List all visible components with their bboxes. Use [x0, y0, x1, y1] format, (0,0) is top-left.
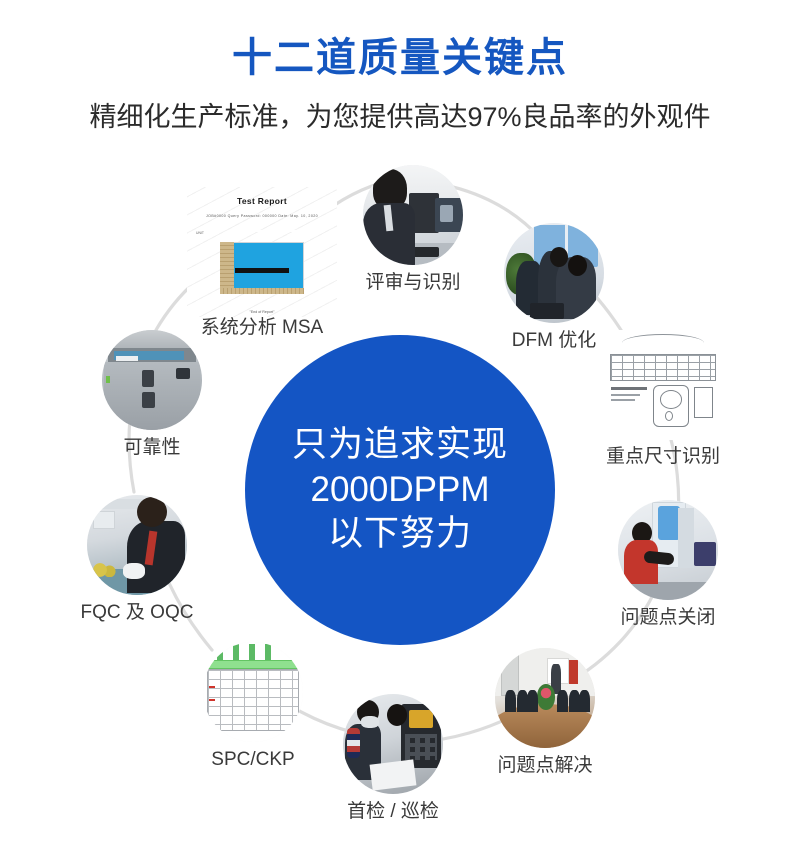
node-dfm-label: DFM 优化: [512, 331, 596, 350]
report-title: Test Report: [237, 196, 287, 206]
page-title: 十二道质量关键点: [0, 38, 800, 78]
node-solve-label: 问题点解决: [497, 756, 592, 775]
test-report-document-icon: Test Report JOB#0000 Query Password: 000…: [187, 187, 337, 317]
meeting-photo-icon: [495, 648, 595, 748]
center-line-3: 以下努力: [328, 512, 472, 557]
report-meta: JOB#0000 Query Password: 000000 Date: Ma…: [206, 214, 318, 218]
node-reliability-label: 可靠性: [123, 438, 180, 457]
node-dimension-label: 重点尺寸识别: [606, 447, 720, 466]
node-inspect-label: 首检 / 巡检: [347, 802, 439, 821]
node-fqc-label: FQC 及 OQC: [81, 603, 194, 622]
fqc-oqc-photo-icon: [87, 495, 187, 595]
center-line-1: 只为追求实现: [292, 423, 508, 468]
node-spc-label: SPC/CKP: [211, 750, 294, 769]
center-goal-circle: 只为追求实现 2000DPPM 以下努力: [245, 335, 555, 645]
node-msa-label: 系统分析 MSA: [201, 318, 323, 337]
page-subtitle: 精细化生产标准，为您提供高达97%良品率的外观件: [0, 104, 800, 131]
report-left-note: UNIT: [196, 231, 204, 235]
review-photo-icon: [363, 165, 463, 265]
cmm-inspection-photo-icon: [618, 500, 718, 600]
center-line-2: 2000DPPM: [311, 468, 490, 513]
reliability-chamber-photo-icon: [102, 330, 202, 430]
spc-spreadsheet-icon: [203, 642, 303, 742]
quality-keypoints-infographic: 十二道质量关键点 精细化生产标准，为您提供高达97%良品率的外观件: [0, 0, 800, 860]
header: 十二道质量关键点 精细化生产标准，为您提供高达97%良品率的外观件: [0, 0, 800, 131]
dfm-photo-icon: [504, 223, 604, 323]
report-end-note: "End of Report": [250, 310, 275, 314]
technical-drawing-icon: [603, 330, 723, 440]
node-review-label: 评审与识别: [365, 273, 460, 292]
first-article-inspection-photo-icon: [343, 694, 443, 794]
node-close-label: 问题点关闭: [620, 608, 715, 627]
